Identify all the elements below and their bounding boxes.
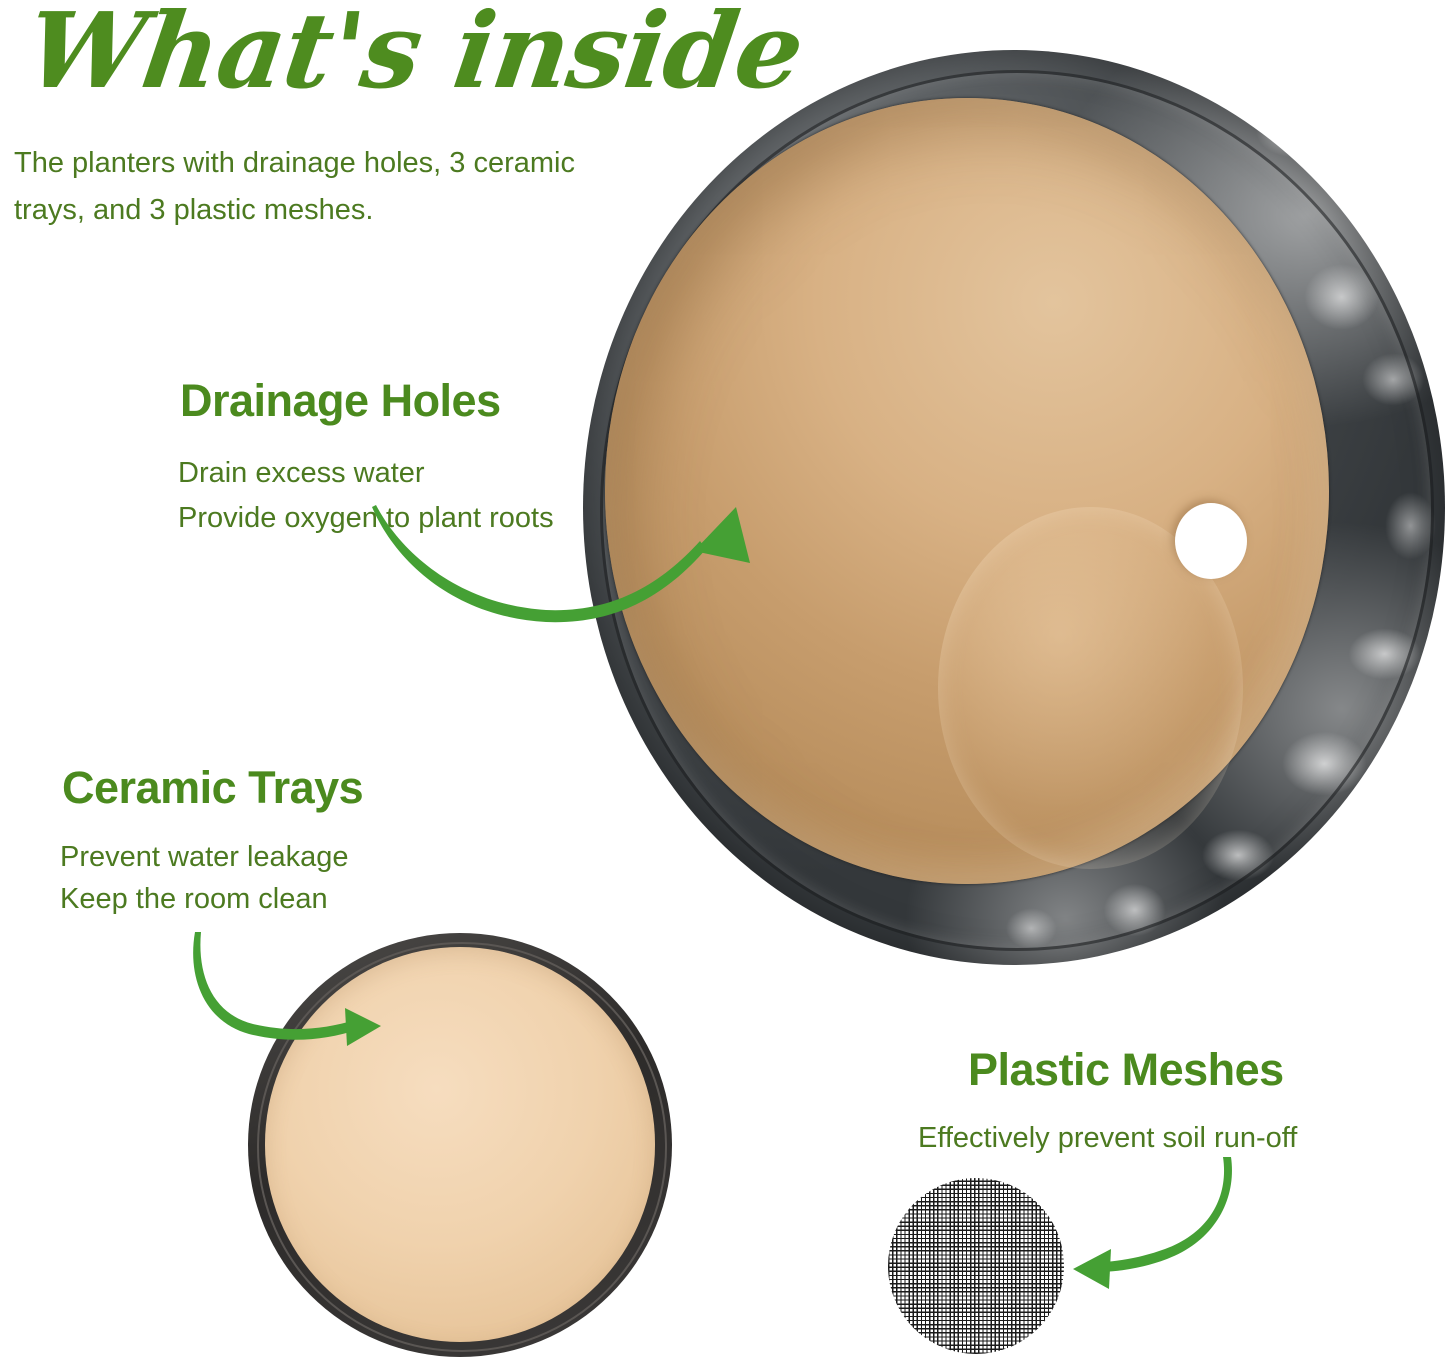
tray-surface [265, 947, 655, 1341]
feature-heading-drainage-holes: Drainage Holes [180, 375, 501, 427]
curved-arrow-left-icon [1055, 1155, 1250, 1290]
feature-line-plastic-meshes-0: Effectively prevent soil run-off [918, 1117, 1297, 1161]
feature-heading-ceramic-trays: Ceramic Trays [62, 762, 363, 814]
planter-image [583, 50, 1445, 965]
feature-heading-plastic-meshes: Plastic Meshes [968, 1044, 1284, 1096]
drainage-hole [1175, 503, 1247, 579]
feature-line-ceramic-trays-0: Prevent water leakage [60, 836, 349, 880]
plastic-mesh-image [888, 1178, 1064, 1354]
feature-line-drainage-holes-0: Drain excess water [178, 452, 425, 496]
feature-line-ceramic-trays-1: Keep the room clean [60, 878, 328, 922]
feature-line-drainage-holes-1: Provide oxygen to plant roots [178, 497, 554, 541]
ceramic-tray-image [248, 933, 672, 1357]
planter-interior-bowl [605, 98, 1329, 885]
infographic-canvas: What's inside The planters with drainage… [0, 0, 1445, 1363]
page-subtitle: The planters with drainage holes, 3 cera… [14, 140, 634, 234]
page-title: What's inside [20, 0, 810, 108]
